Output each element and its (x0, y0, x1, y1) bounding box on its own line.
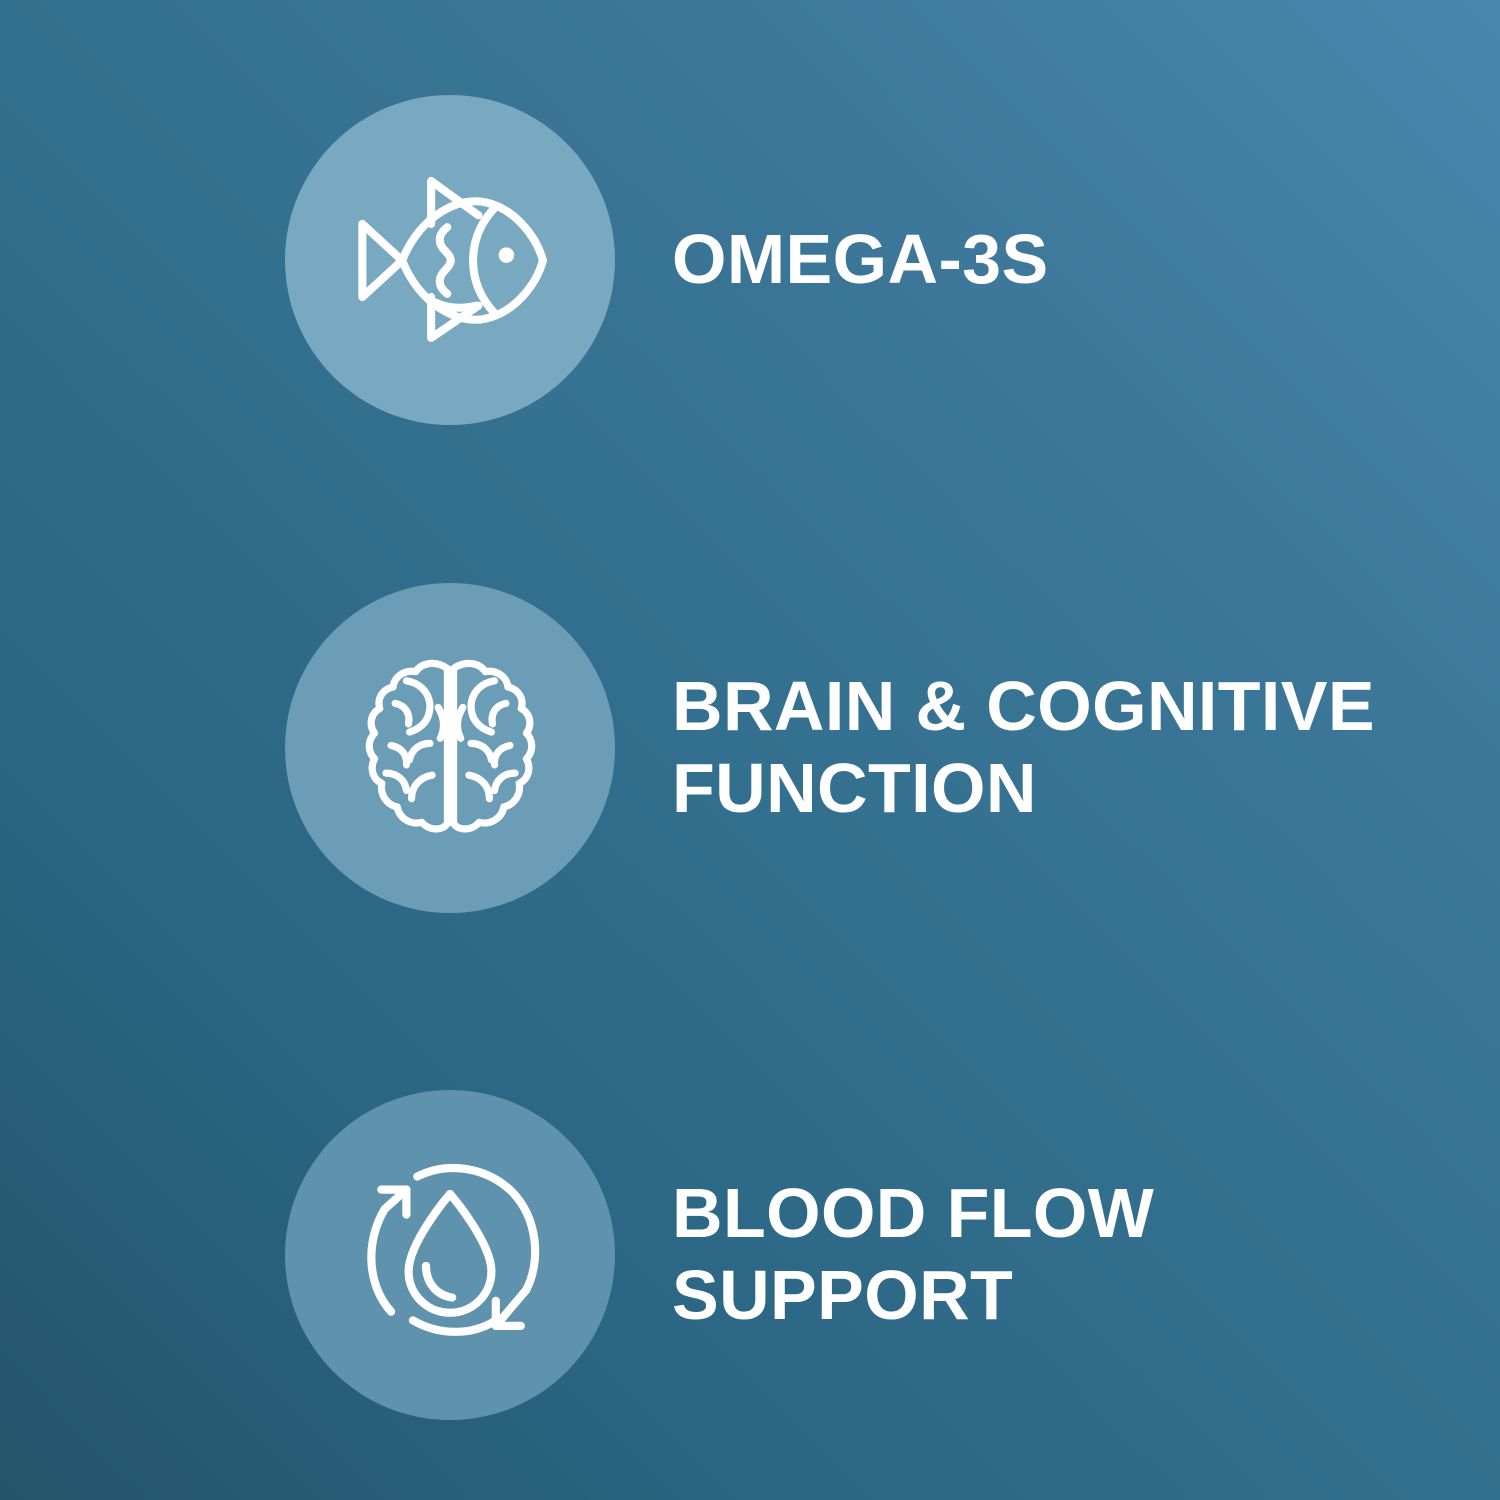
benefit-row: BRAIN & COGNITIVE FUNCTION (0, 583, 1500, 913)
icon-badge-brain (285, 583, 615, 913)
benefit-row: BLOOD FLOW SUPPORT (0, 1090, 1500, 1420)
benefit-label-brain: BRAIN & COGNITIVE FUNCTION (672, 666, 1375, 830)
icon-badge-blood-flow (285, 1090, 615, 1420)
benefits-infographic: OMEGA-3S (0, 0, 1500, 1500)
benefit-label-omega-3s: OMEGA-3S (672, 219, 1049, 301)
benefit-row: OMEGA-3S (0, 95, 1500, 425)
icon-badge-omega-3s (285, 95, 615, 425)
fish-icon (343, 153, 558, 368)
brain-icon (348, 646, 553, 851)
blood-drop-cycle-icon (341, 1146, 559, 1364)
benefit-label-blood-flow: BLOOD FLOW SUPPORT (672, 1173, 1154, 1337)
